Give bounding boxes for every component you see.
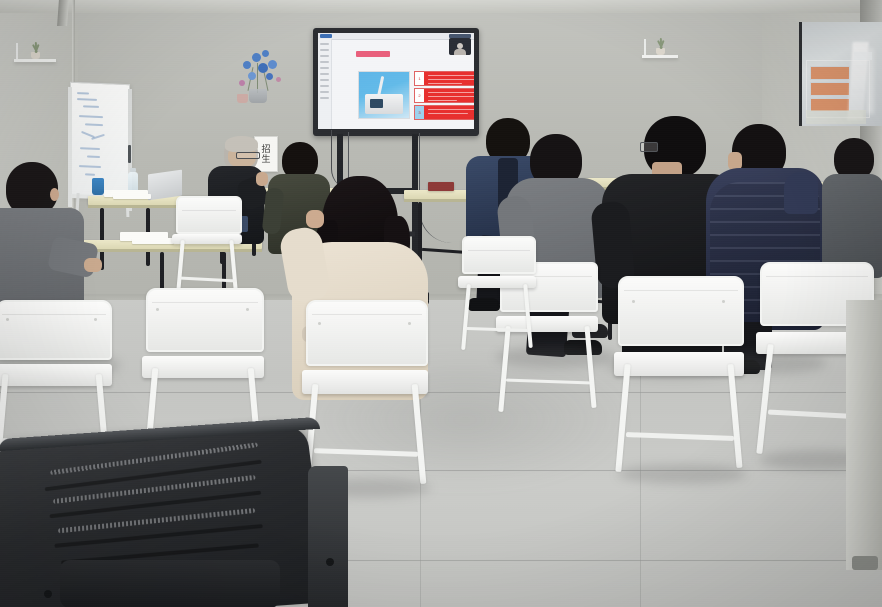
wall-shelf-left xyxy=(14,38,56,62)
office-chair-armrest[interactable] xyxy=(308,466,348,607)
floral-wall-art xyxy=(232,47,286,105)
wall-shelf-right xyxy=(642,34,678,58)
slide-row: 2 xyxy=(414,88,474,103)
right-wall-monitor xyxy=(799,22,882,126)
eyeglasses-icon xyxy=(640,142,658,152)
plant-leaf xyxy=(35,42,37,53)
art-pot-small xyxy=(237,94,248,103)
ceiling-corner-trim xyxy=(57,0,69,26)
shelf-plank xyxy=(14,59,56,62)
slide-thumbnail-panel xyxy=(318,39,332,129)
slide-row-text xyxy=(424,89,474,102)
slide-row-number: 3 xyxy=(415,106,424,119)
folding-chair[interactable] xyxy=(618,276,740,476)
chair-back xyxy=(146,288,264,352)
slide-row-text xyxy=(424,106,474,119)
chair-back xyxy=(176,196,242,234)
slide-row-number: 1 xyxy=(415,72,424,85)
shelf-plank xyxy=(642,55,678,58)
art-pot xyxy=(249,89,267,103)
tv-screen[interactable]: 1 2 3 xyxy=(318,33,474,129)
app-tab xyxy=(320,34,332,38)
shelf-plant-icon xyxy=(653,38,667,55)
chair-back xyxy=(618,276,744,346)
chair-back xyxy=(306,300,428,366)
plant-leaf xyxy=(660,38,662,49)
person-body-icon xyxy=(454,49,466,55)
monitor-bar xyxy=(810,82,850,96)
chair-seat xyxy=(614,352,744,376)
shelf-bracket xyxy=(16,43,18,59)
video-thumbnail[interactable] xyxy=(449,38,471,55)
handout-sheets xyxy=(132,238,174,244)
ceiling xyxy=(0,0,882,13)
shelf-bracket xyxy=(644,39,646,55)
slide-title-block xyxy=(356,51,390,57)
chair-seat xyxy=(142,356,264,378)
chair-seat xyxy=(302,370,428,394)
slide-photo xyxy=(358,71,410,119)
marker-icon xyxy=(128,145,131,163)
shelf-plant-icon xyxy=(28,42,42,59)
chair-back xyxy=(0,300,112,360)
office-chair-seat[interactable] xyxy=(60,560,280,607)
column-base xyxy=(852,556,878,570)
slide-row: 3 xyxy=(414,105,474,120)
photo-machine xyxy=(365,94,403,114)
folding-chair[interactable] xyxy=(462,236,532,352)
classroom-photo-scene: 1 2 3 xyxy=(0,0,882,607)
slide-row-text xyxy=(424,72,474,85)
slide-row-number: 2 xyxy=(415,89,424,102)
chair-adjust-knob[interactable] xyxy=(44,590,52,598)
chair-back xyxy=(462,236,536,274)
slide-row: 1 xyxy=(414,71,474,86)
eyeglasses-icon xyxy=(236,152,260,159)
monitor-bar xyxy=(810,66,850,80)
right-column xyxy=(846,300,882,570)
main-display[interactable]: 1 2 3 xyxy=(313,28,479,136)
chair-adjust-knob[interactable] xyxy=(326,558,334,566)
papers xyxy=(113,194,151,199)
